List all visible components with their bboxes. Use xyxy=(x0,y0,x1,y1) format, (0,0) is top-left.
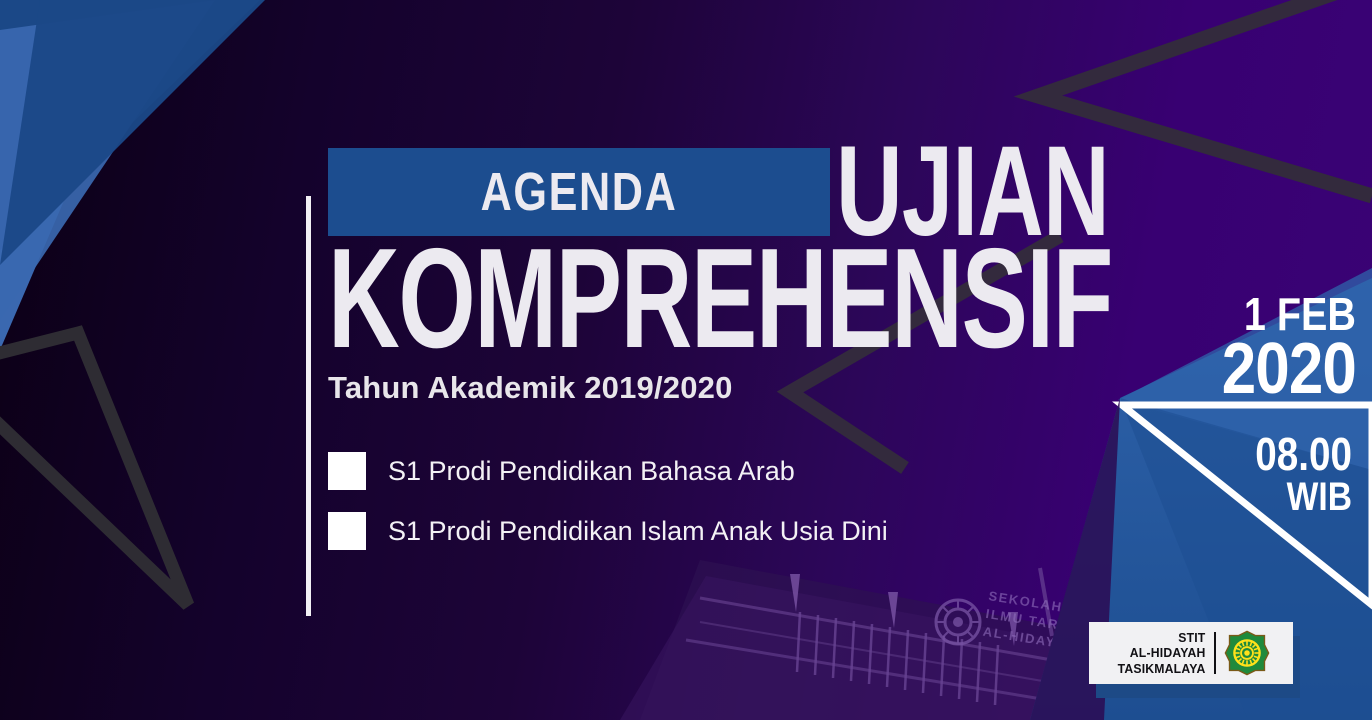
date-year: 2020 xyxy=(1167,336,1356,404)
list-item: S1 Prodi Pendidikan Islam Anak Usia Dini xyxy=(328,512,888,550)
title-line-2: KOMPREHENSIF xyxy=(328,228,846,370)
time-block: 08.00 WIB xyxy=(1172,432,1352,517)
vertical-rule xyxy=(306,196,311,616)
stit-crest-icon xyxy=(1224,630,1270,676)
program-list: S1 Prodi Pendidikan Bahasa Arab S1 Prodi… xyxy=(328,452,888,572)
logo-badge: STIT AL-HIDAYAH TASIKMALAYA xyxy=(1089,622,1293,684)
logo-text: STIT AL-HIDAYAH TASIKMALAYA xyxy=(1118,630,1206,676)
time-value: 08.00 xyxy=(1201,432,1352,477)
shape-blue-triangle-left-overlay xyxy=(0,0,265,265)
list-item: S1 Prodi Pendidikan Bahasa Arab xyxy=(328,452,888,490)
headline-block: AGENDA UJIAN KOMPREHENSIF xyxy=(328,148,1068,370)
checkbox-icon xyxy=(328,452,366,490)
time-zone: WIB xyxy=(1201,477,1352,517)
subtitle: Tahun Akademik 2019/2020 xyxy=(328,370,733,406)
logo-line-3: TASIKMALAYA xyxy=(1118,661,1206,676)
logo-divider xyxy=(1214,632,1216,674)
program-label: S1 Prodi Pendidikan Bahasa Arab xyxy=(388,456,795,487)
shape-outline-triangle-bottom-left xyxy=(0,333,188,605)
checkbox-icon xyxy=(328,512,366,550)
poster-canvas: SEKOLAH TINGGI ILMU TARBIYAH AL-HIDAYAH … xyxy=(0,0,1372,720)
logo-line-1: STIT xyxy=(1118,630,1206,645)
logo-line-2: AL-HIDAYAH xyxy=(1118,645,1206,660)
program-label: S1 Prodi Pendidikan Islam Anak Usia Dini xyxy=(388,516,888,547)
date-block: 1 FEB 2020 xyxy=(1136,292,1356,404)
